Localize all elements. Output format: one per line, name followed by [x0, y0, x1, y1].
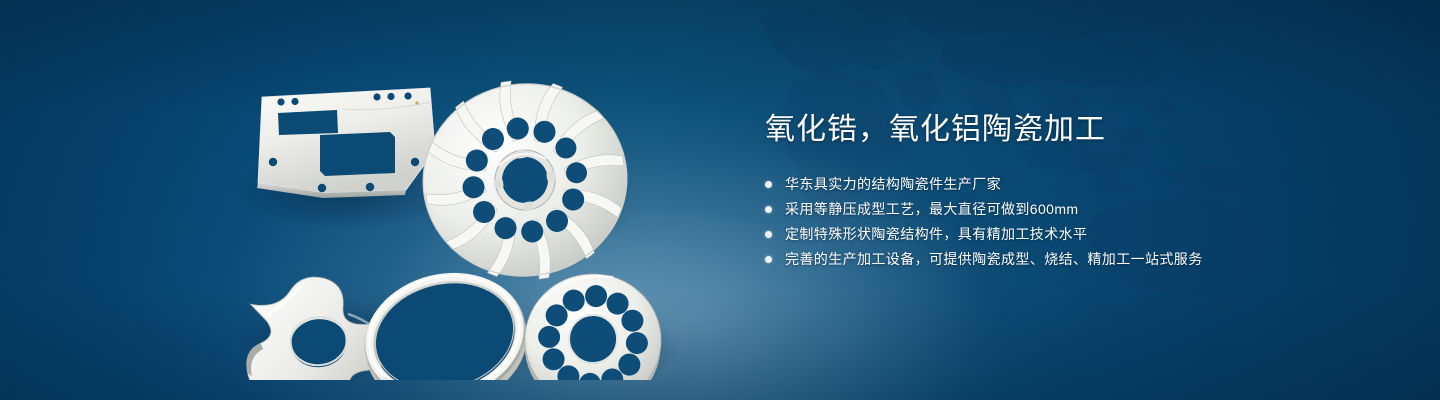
ceramic-vaned-impeller-disc	[410, 67, 640, 293]
feature-text: 定制特殊形状陶瓷结构件，具有精加工技术水平	[785, 222, 1087, 247]
hero-banner: 氧化锆，氧化铝陶瓷加工 华东具实力的结构陶瓷件生产厂家 采用等静压成型工艺，最大…	[0, 0, 1440, 400]
banner-copy: 氧化锆，氧化铝陶瓷加工 华东具实力的结构陶瓷件生产厂家 采用等静压成型工艺，最大…	[765, 110, 1365, 272]
feature-item: 华东具实力的结构陶瓷件生产厂家	[765, 172, 1365, 197]
feature-item: 采用等静压成型工艺，最大直径可做到600mm	[765, 197, 1365, 222]
ceramic-ring	[357, 260, 535, 380]
ceramic-valve-plate	[520, 269, 665, 380]
bullet-dot-icon	[765, 231, 772, 238]
bullet-dot-icon	[765, 206, 772, 213]
feature-item: 定制特殊形状陶瓷结构件，具有精加工技术水平	[765, 222, 1365, 247]
feature-text: 华东具实力的结构陶瓷件生产厂家	[785, 172, 1001, 197]
feature-item: 完善的生产加工设备，可提供陶瓷成型、烧结、精加工一站式服务	[765, 247, 1365, 272]
feature-text: 采用等静压成型工艺，最大直径可做到600mm	[785, 197, 1078, 222]
bullet-dot-icon	[765, 181, 772, 188]
ceramic-products-image	[225, 40, 705, 380]
bullet-dot-icon	[765, 256, 772, 263]
feature-text: 完善的生产加工设备，可提供陶瓷成型、烧结、精加工一站式服务	[785, 247, 1203, 272]
ceramic-machined-plate	[257, 88, 435, 198]
banner-headline: 氧化锆，氧化铝陶瓷加工	[765, 110, 1365, 150]
banner-feature-list: 华东具实力的结构陶瓷件生产厂家 采用等静压成型工艺，最大直径可做到600mm 定…	[765, 172, 1365, 272]
